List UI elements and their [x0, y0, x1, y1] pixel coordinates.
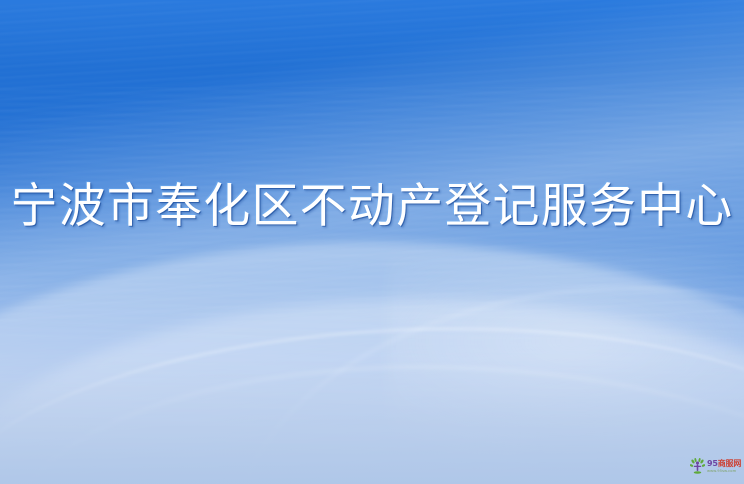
watermark-chinese: 商服网: [718, 459, 741, 468]
watermark: 95商服网 www.95sw.com: [690, 454, 740, 478]
watermark-number: 95: [707, 459, 718, 468]
page-title: 宁波市奉化区不动产登记服务中心: [11, 183, 734, 230]
headline-container: 宁波市奉化区不动产登记服务中心: [0, 178, 744, 234]
banner-image: 宁波市奉化区不动产登记服务中心: [0, 0, 744, 484]
sprout-person-logo-icon: [690, 458, 705, 475]
watermark-text: 95商服网 www.95sw.com: [707, 460, 741, 473]
watermark-title: 95商服网: [707, 460, 741, 468]
watermark-url: www.95sw.com: [707, 469, 738, 473]
bottom-haze: [0, 358, 744, 484]
